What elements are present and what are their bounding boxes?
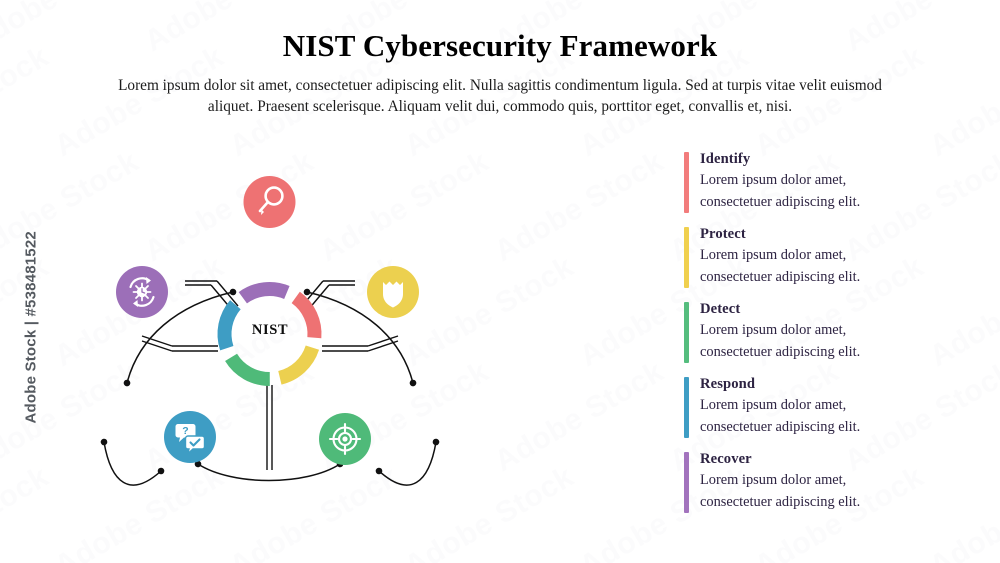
page-subtitle: Lorem ipsum dolor sit amet, consectetuer…: [100, 75, 900, 117]
legend-item-title: Protect: [700, 225, 954, 244]
watermark-tile: Adobe Stock: [489, 355, 670, 479]
arc-respond-to-recover: [104, 442, 161, 485]
legend-item-description: Lorem ipsum dolor amet, consectetuer adi…: [700, 245, 908, 289]
legend-color-bar: [684, 302, 689, 363]
spoke-bottom: [267, 385, 272, 470]
donut-ring: [207, 271, 333, 397]
header: NIST Cybersecurity Framework Lorem ipsum…: [60, 28, 940, 117]
legend-item-description: Lorem ipsum dolor amet, consectetuer adi…: [700, 470, 908, 514]
spoke-right: [322, 336, 398, 351]
legend-item-description: Lorem ipsum dolor amet, consectetuer adi…: [700, 395, 908, 439]
legend-item-identify[interactable]: IdentifyLorem ipsum dolor amet, consecte…: [684, 150, 954, 214]
node-protect[interactable]: [367, 266, 419, 318]
legend-item-detect[interactable]: DetectLorem ipsum dolor amet, consectetu…: [684, 300, 954, 364]
legend-item-description: Lorem ipsum dolor amet, consectetuer adi…: [700, 320, 908, 364]
node-respond[interactable]: ?: [164, 411, 216, 463]
legend-item-title: Recover: [700, 450, 954, 469]
svg-text:?: ?: [182, 425, 188, 437]
watermark-tile: Adobe Stock: [0, 40, 55, 164]
legend-color-bar: [684, 452, 689, 513]
arc-connectors: [104, 292, 436, 485]
arc-protect-to-detect: [379, 442, 436, 485]
page-title: NIST Cybersecurity Framework: [60, 28, 940, 65]
slide-canvas: Adobe StockAdobe StockAdobe StockAdobe S…: [0, 0, 1000, 563]
legend-item-title: Respond: [700, 375, 954, 394]
spoke-left: [142, 336, 218, 351]
legend-item-recover[interactable]: RecoverLorem ipsum dolor amet, consectet…: [684, 450, 954, 514]
arc-detect-to-respond: [198, 464, 340, 481]
legend-color-bar: [684, 152, 689, 213]
legend-list: IdentifyLorem ipsum dolor amet, consecte…: [684, 150, 954, 514]
node-identify[interactable]: [244, 176, 296, 228]
legend-color-bar: [684, 227, 689, 288]
watermark-tile: Adobe Stock: [0, 460, 55, 563]
watermark-tile: Adobe Stock: [489, 145, 670, 269]
legend-item-title: Identify: [700, 150, 954, 169]
legend-item-title: Detect: [700, 300, 954, 319]
side-watermark-label: Adobe Stock | #538481522: [23, 194, 40, 424]
legend-item-description: Lorem ipsum dolor amet, consectetuer adi…: [700, 170, 908, 214]
crosshair-target-icon-core: [342, 436, 347, 441]
legend-item-respond[interactable]: RespondLorem ipsum dolor amet, consectet…: [684, 375, 954, 439]
legend-item-protect[interactable]: ProtectLorem ipsum dolor amet, consectet…: [684, 225, 954, 289]
node-recover[interactable]: [116, 266, 168, 318]
diagram-svg: ?: [80, 140, 460, 500]
legend-color-bar: [684, 377, 689, 438]
node-detect[interactable]: [319, 413, 371, 465]
nist-cycle-diagram: ?: [80, 140, 460, 500]
